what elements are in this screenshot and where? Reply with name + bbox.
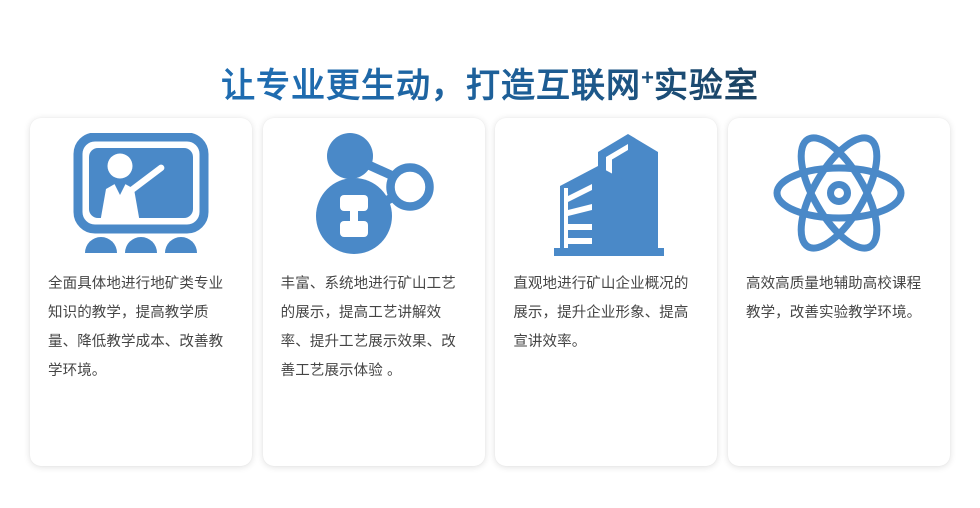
- office-buildings-icon: [495, 118, 717, 268]
- feature-card-text: 直观地进行矿山企业概况的展示，提升企业形象、提高宣讲效率。: [513, 270, 699, 357]
- feature-card-text: 高效高质量地辅助高校课程教学，改善实验教学环境。: [746, 270, 932, 328]
- share-network-icon: [263, 118, 485, 268]
- page-title-part1: 让专业更生动，打造互联网: [221, 67, 641, 105]
- feature-card-text: 全面具体地进行地矿类专业知识的教学，提高教学质量、降低教学成本、改善教学环境。: [48, 270, 234, 386]
- classroom-teaching-icon: [30, 118, 252, 268]
- feature-card[interactable]: 丰富、系统地进行矿山工艺的展示，提高工艺讲解效率、提升工艺展示效果、改善工艺展示…: [263, 118, 485, 466]
- page-title: 让专业更生动，打造互联网+实验室: [0, 55, 980, 109]
- feature-card-list: 全面具体地进行地矿类专业知识的教学，提高教学质量、降低教学成本、改善教学环境。: [30, 118, 950, 466]
- page-title-part2: 实验室: [654, 67, 759, 105]
- feature-card-text: 丰富、系统地进行矿山工艺的展示，提高工艺讲解效率、提升工艺展示效果、改善工艺展示…: [281, 270, 467, 386]
- feature-card[interactable]: 直观地进行矿山企业概况的展示，提升企业形象、提高宣讲效率。: [495, 118, 717, 466]
- feature-card[interactable]: 全面具体地进行地矿类专业知识的教学，提高教学质量、降低教学成本、改善教学环境。: [30, 118, 252, 466]
- page-root: 让专业更生动，打造互联网+实验室: [0, 0, 980, 508]
- atom-icon: [728, 118, 950, 268]
- page-title-superscript-plus: +: [641, 65, 654, 90]
- feature-card[interactable]: 高效高质量地辅助高校课程教学，改善实验教学环境。: [728, 118, 950, 466]
